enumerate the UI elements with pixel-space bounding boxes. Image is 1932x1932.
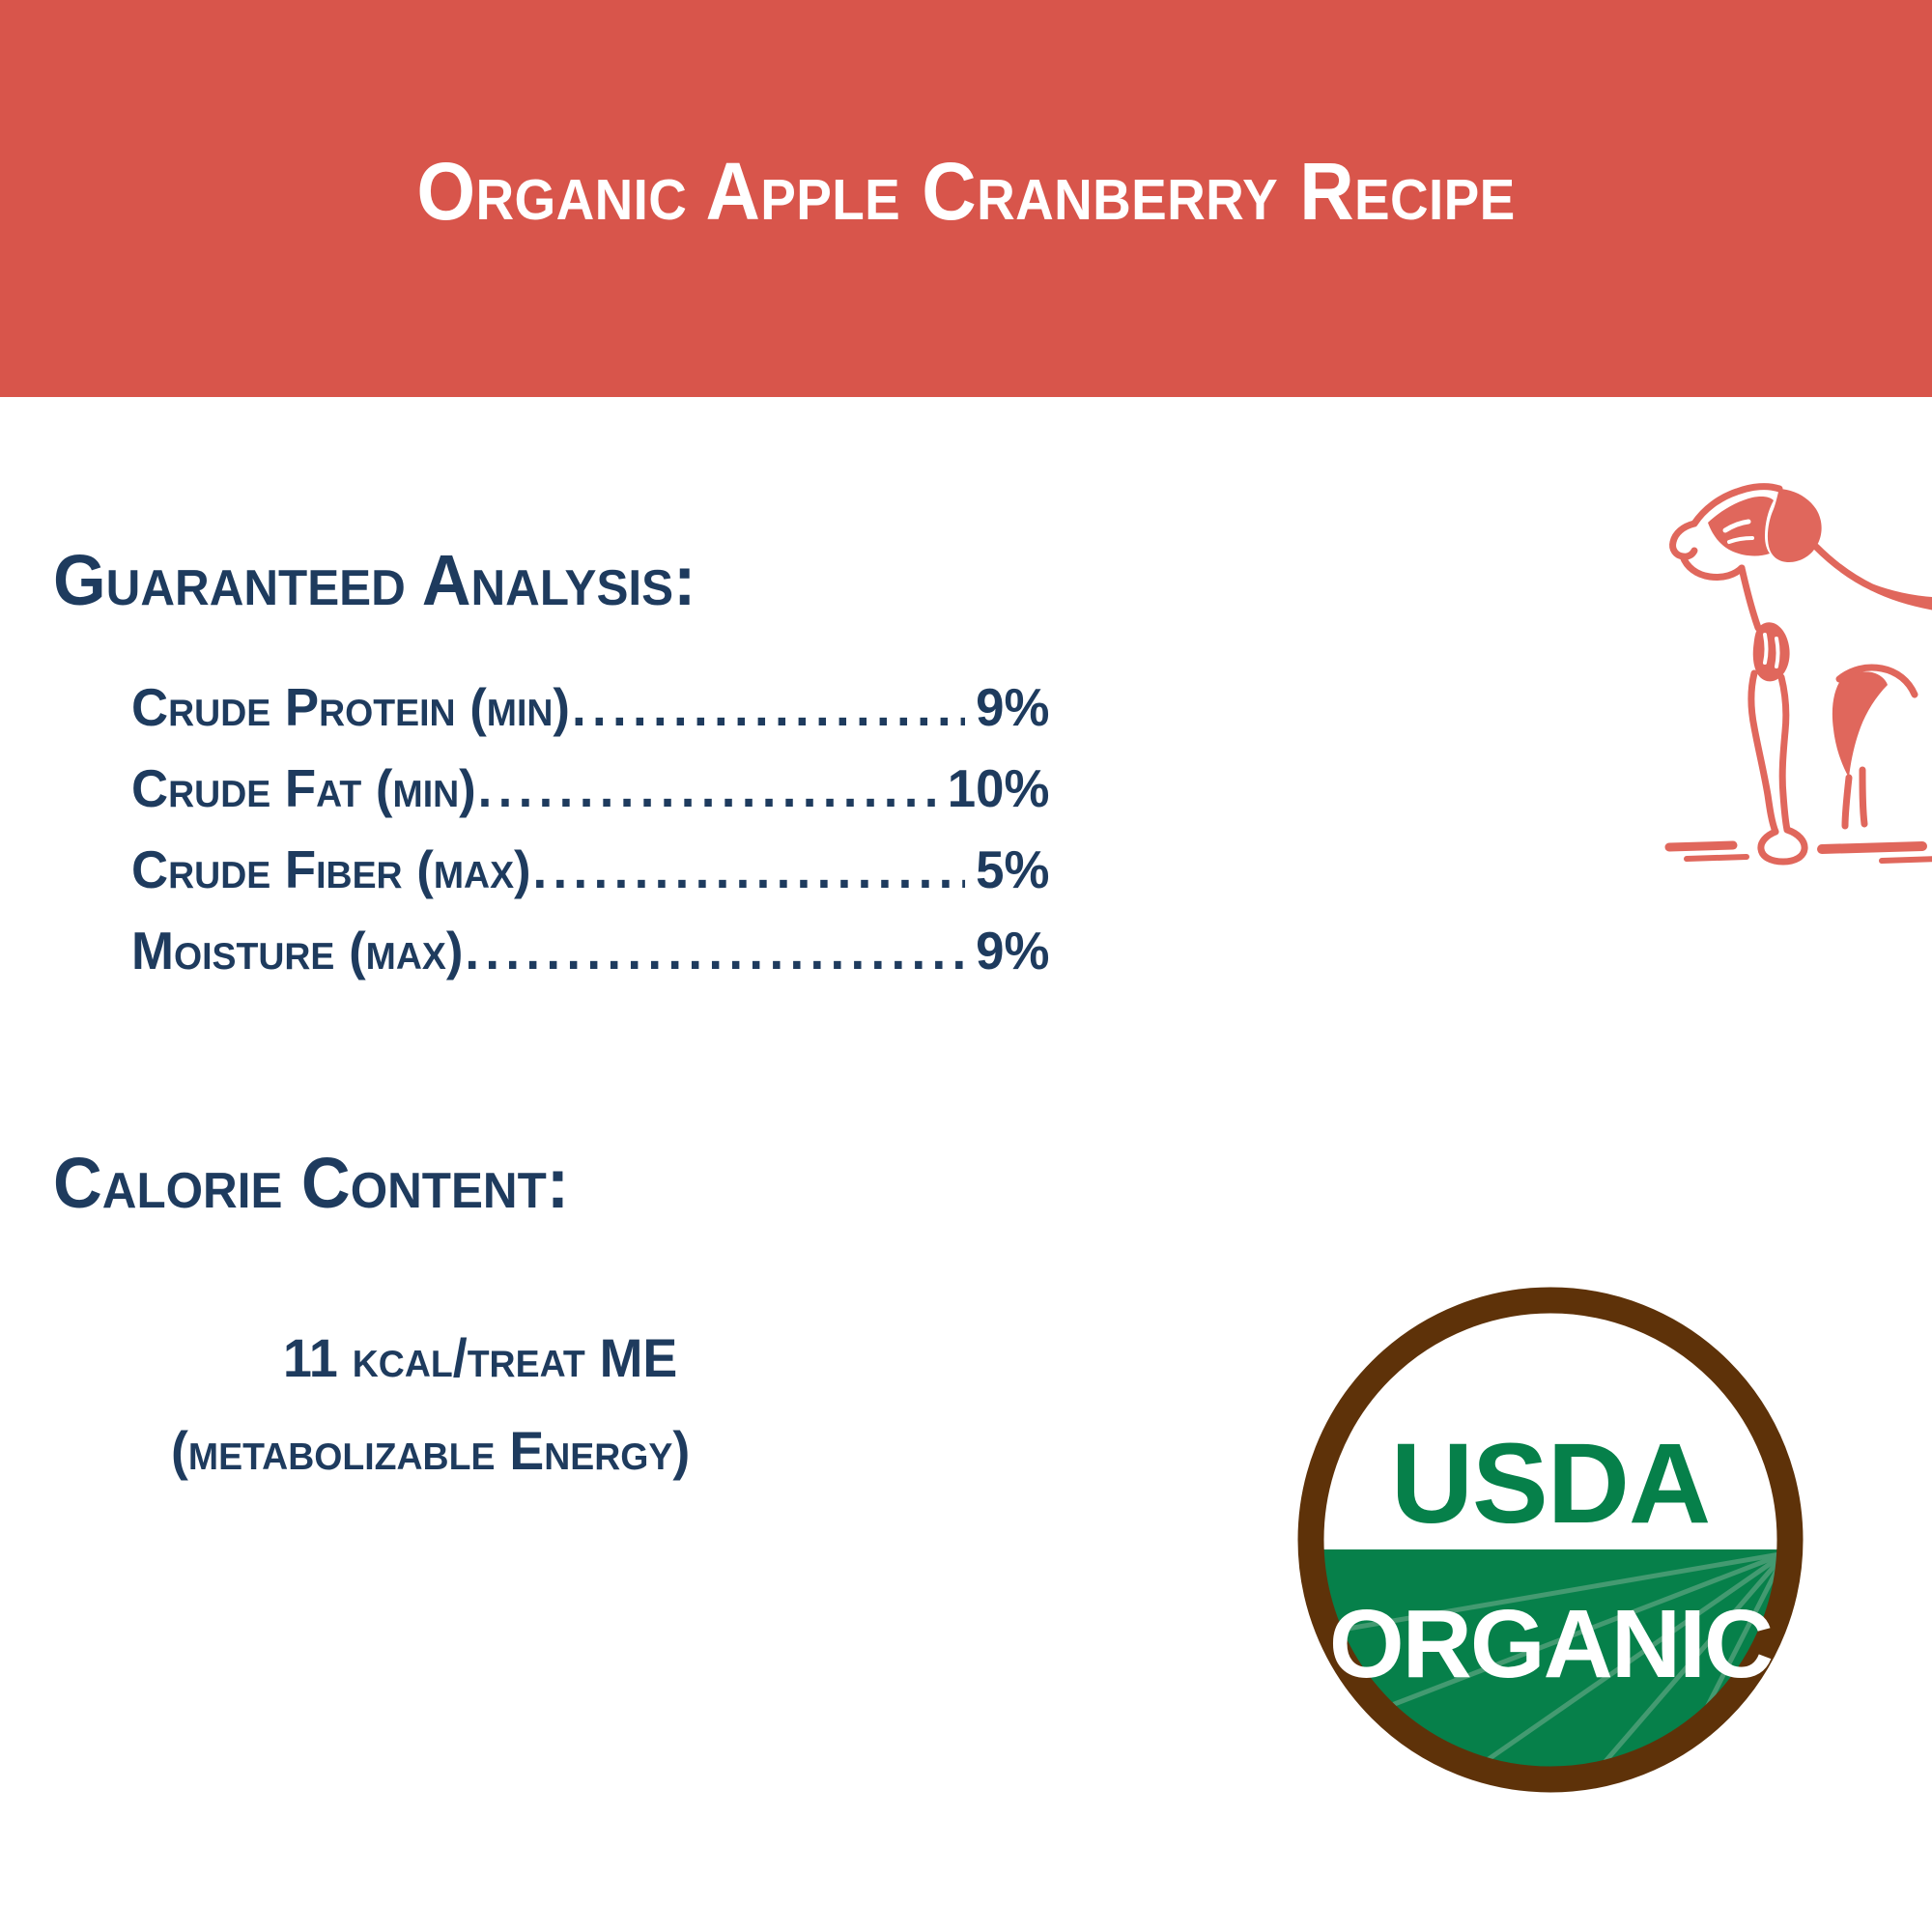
usda-organic-seal-icon: USDA ORGANIC — [1287, 1273, 1814, 1806]
analysis-row-value: 9% — [966, 920, 1049, 981]
page-title: Organic Apple Cranberry Recipe — [68, 0, 1864, 397]
guaranteed-analysis-heading: Guaranteed Analysis: — [53, 539, 696, 621]
analysis-row: Crude Fiber (max) 5% — [131, 838, 1049, 920]
dot-leader — [533, 851, 965, 904]
guaranteed-analysis-list: Crude Protein (min) 9% Crude Fat (min) 1… — [131, 676, 1088, 1001]
analysis-row: Moisture (max) 9% — [131, 920, 1049, 1001]
dot-leader — [465, 932, 964, 985]
calorie-value: 11 kcal/treat ME — [283, 1326, 677, 1389]
analysis-row-label: Moisture (max) — [131, 920, 463, 981]
dot-leader — [572, 689, 965, 742]
analysis-row-label: Crude Fiber (max) — [131, 838, 531, 900]
header-banner: Organic Apple Cranberry Recipe — [0, 0, 1932, 397]
calorie-note: (metabolizable Energy) — [171, 1419, 690, 1482]
dot-leader — [478, 770, 937, 823]
analysis-row: Crude Fat (min) 10% — [131, 757, 1049, 838]
calorie-content-heading: Calorie Content: — [53, 1142, 569, 1224]
usda-seal-bottom-text: ORGANIC — [1329, 1590, 1772, 1698]
analysis-row-value: 10% — [938, 757, 1049, 819]
dog-icon — [1633, 430, 1932, 874]
nutrition-panel: Organic Apple Cranberry Recipe Guarantee… — [0, 0, 1932, 1932]
dog-line-art-illustration — [1633, 430, 1932, 874]
analysis-row: Crude Protein (min) 9% — [131, 676, 1049, 757]
usda-organic-seal: USDA ORGANIC — [1287, 1273, 1814, 1806]
analysis-row-label: Crude Protein (min) — [131, 676, 570, 738]
analysis-row-label: Crude Fat (min) — [131, 757, 476, 819]
analysis-row-value: 9% — [966, 676, 1049, 738]
analysis-row-value: 5% — [966, 838, 1049, 900]
usda-seal-top-text: USDA — [1391, 1420, 1710, 1548]
